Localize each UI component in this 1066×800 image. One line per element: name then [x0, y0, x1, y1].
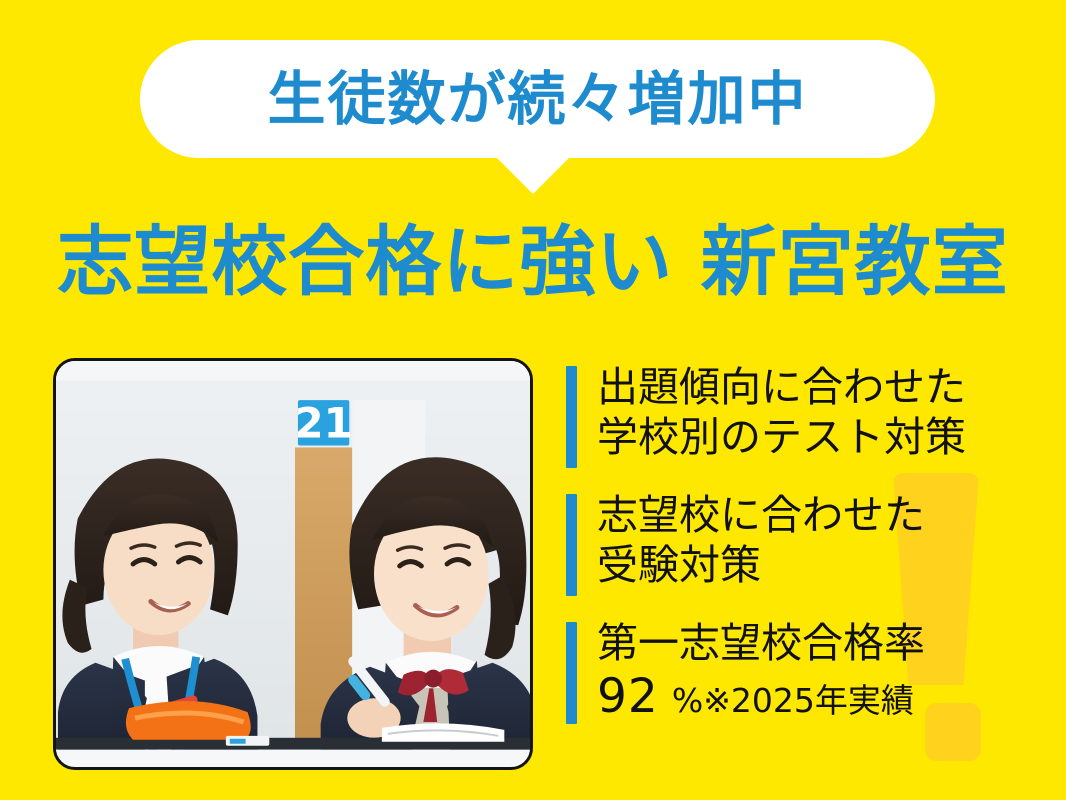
speech-bubble-tail-icon	[495, 156, 571, 194]
bullet-bar-icon	[566, 366, 577, 468]
feature-item-1-text: 出題傾向に合わせた 学校別のテスト対策	[597, 362, 966, 462]
classroom-photo-illustration: 21	[56, 361, 530, 767]
pass-rate-stat: 92 %※2025年実績	[597, 668, 925, 725]
feature-item-1-line-2: 学校別のテスト対策	[597, 412, 966, 462]
feature-item-3: 第一志望校合格率 92 %※2025年実績	[566, 618, 1056, 725]
feature-item-2-line-1: 志望校に合わせた	[597, 490, 925, 540]
feature-item-1-line-1: 出題傾向に合わせた	[597, 362, 966, 412]
bullet-bar-icon	[566, 494, 577, 596]
badge-text: 生徒数が続々増加中	[267, 70, 807, 128]
pass-rate-value: 92	[597, 669, 659, 724]
feature-item-3-line-1: 第一志望校合格率	[597, 618, 925, 668]
bullet-bar-icon	[566, 622, 577, 724]
classroom-photo: 21	[53, 358, 533, 770]
feature-item-1: 出題傾向に合わせた 学校別のテスト対策	[566, 362, 1056, 468]
feature-list: 出題傾向に合わせた 学校別のテスト対策 志望校に合わせた 受験対策 第一志望校合…	[566, 362, 1056, 747]
badge-speech-bubble: 生徒数が続々増加中	[140, 40, 935, 158]
page-title: 志望校合格に強い 新宮教室	[0, 222, 1066, 302]
feature-item-3-text: 第一志望校合格率 92 %※2025年実績	[597, 618, 925, 725]
feature-item-2-text: 志望校に合わせた 受験対策	[597, 490, 925, 590]
poster-canvas: 生徒数が続々増加中 志望校合格に強い 新宮教室	[0, 0, 1066, 800]
pass-rate-note: %※2025年実績	[672, 681, 914, 720]
feature-item-2: 志望校に合わせた 受験対策	[566, 490, 1056, 596]
feature-item-2-line-2: 受験対策	[597, 540, 925, 590]
svg-text:21: 21	[295, 400, 353, 448]
